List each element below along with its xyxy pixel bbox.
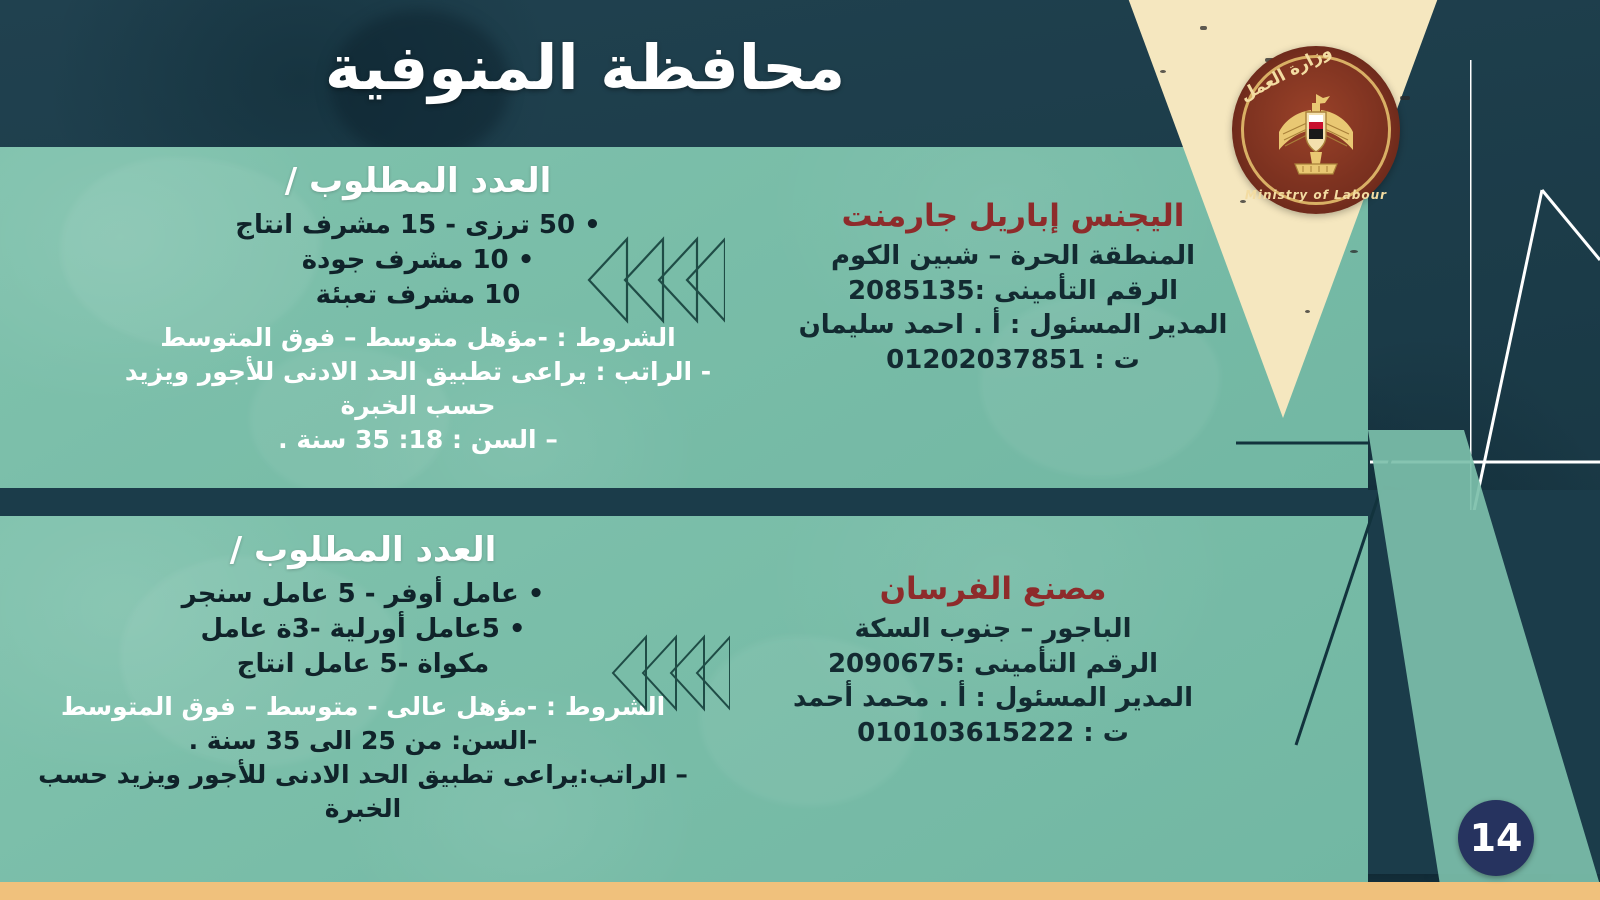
requirements-heading: العدد المطلوب / (18, 530, 708, 571)
chevron-arrows-left-icon (585, 235, 725, 325)
condition-line: الشروط : -مؤهل متوسط – فوق المتوسط (98, 321, 738, 355)
ministry-of-labour-emblem-icon: وزارة العمل Ministry of Labour (1232, 46, 1400, 214)
requirements-2: العدد المطلوب / • عامل أوفر - 5 عامل سنج… (18, 530, 708, 826)
page-title: محافظة المنوفية (0, 34, 1170, 102)
company-name: اليجنس إباريل جارمنت (778, 197, 1248, 236)
insurance-number: الرقم التأمينى :2090675 (758, 647, 1228, 682)
requirements-heading: العدد المطلوب / (98, 161, 738, 202)
condition-line: – الراتب:يراعى تطبيق الحد الادنى للأجور … (18, 758, 708, 792)
manager-name: المدير المسئول : أ . محمد أحمد (758, 681, 1228, 716)
insurance-number: الرقم التأمينى :2085135 (778, 274, 1248, 309)
job-block-1: اليجنس إباريل جارمنت المنطقة الحرة – شبي… (0, 147, 1368, 488)
condition-line: الخبرة (18, 792, 708, 826)
company-info-2: مصنع الفرسان الباجور – جنوب السكة الرقم … (758, 570, 1228, 751)
texture-speck (1305, 310, 1310, 313)
poster-canvas: محافظة المنوفية اليجنس إباريل جارمنت الم… (0, 0, 1600, 900)
requirement-item: • عامل أوفر - 5 عامل سنجر (18, 577, 708, 612)
texture-speck (1160, 70, 1166, 73)
texture-speck (1400, 96, 1410, 100)
company-location: الباجور – جنوب السكة (758, 612, 1228, 647)
requirement-item: مكواة -5 عامل انتاج (18, 647, 708, 682)
company-name: مصنع الفرسان (758, 570, 1228, 609)
condition-line: -السن: من 25 الى 35 سنة . (18, 724, 708, 758)
company-location: المنطقة الحرة – شبين الكوم (778, 239, 1248, 274)
company-phone: ت : 010103615222 (758, 716, 1228, 751)
chevron-arrows-left-icon (610, 634, 730, 712)
company-info-1: اليجنس إباريل جارمنت المنطقة الحرة – شبي… (778, 197, 1248, 378)
bottom-orange-bar-left (232, 884, 1600, 900)
texture-speck (1200, 26, 1207, 30)
texture-speck (1350, 250, 1358, 253)
job-block-2: مصنع الفرسان الباجور – جنوب السكة الرقم … (0, 516, 1368, 885)
eagle-of-saladin-icon (1273, 88, 1359, 178)
panel-divider (0, 488, 1368, 516)
condition-line: حسب الخبرة (98, 389, 738, 423)
texture-speck (1240, 200, 1246, 203)
company-phone: ت : 01202037851 (778, 343, 1248, 378)
condition-line: - الراتب : يراعى تطبيق الحد الادنى للأجو… (98, 355, 738, 389)
condition-line: الشروط : -مؤهل عالى - متوسط – فوق المتوس… (18, 690, 708, 724)
page-number-badge: 14 (1458, 800, 1534, 876)
condition-line: – السن : 18: 35 سنة . (98, 423, 738, 457)
requirement-item: • 5عامل أورلية -3ة عامل (18, 612, 708, 647)
manager-name: المدير المسئول : أ . احمد سليمان (778, 308, 1248, 343)
